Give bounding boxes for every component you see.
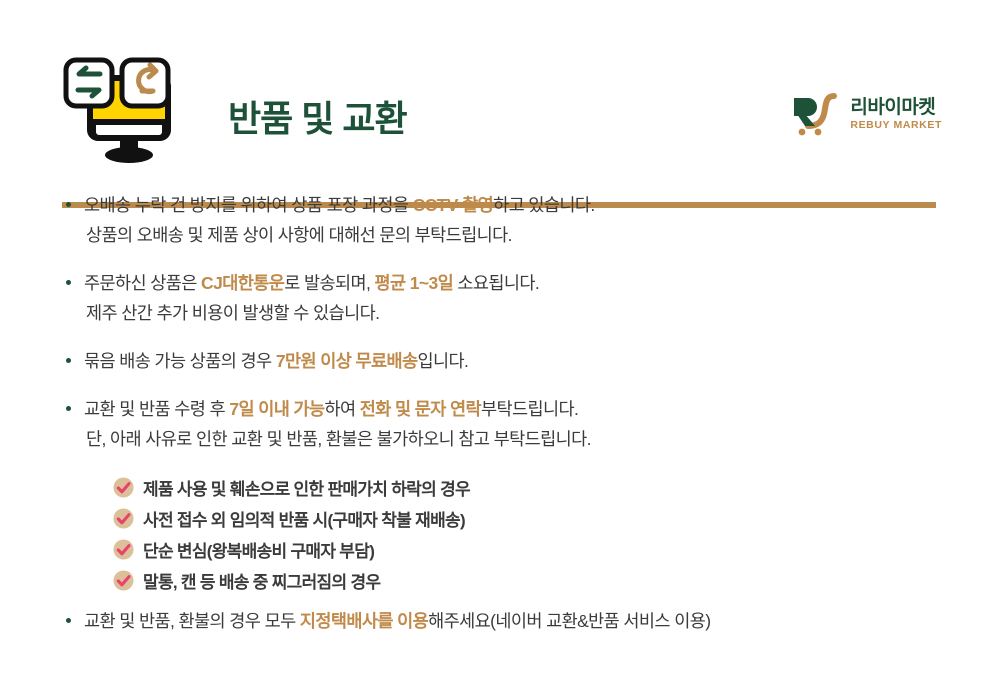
notice-text-mid: 로 발송되며, (284, 273, 374, 293)
notice-text-highlight: 지정택배사를 이용 (300, 611, 428, 631)
page-header: 반품 및 교환 리바이마켓 REBUY MARKET (0, 46, 1000, 166)
brand-name-en: REBUY MARKET (850, 120, 942, 131)
notice-item: 오배송 누락 건 방지를 위하여 상품 포장 과정을 CCTV 촬영하고 있습니… (0, 190, 1000, 250)
notice-text-post: 소요됩니다. (453, 273, 539, 293)
notice-text-post: 해주세요(네이버 교환&반품 서비스 이용) (428, 611, 710, 631)
exclusion-label: 말통, 캔 등 배송 중 찌그러짐의 경우 (143, 568, 380, 593)
notice-subline: 단, 아래 사유로 인한 교환 및 반품, 환불은 불가하오니 참고 부탁드립니… (84, 424, 1000, 454)
notice-item: 묶음 배송 가능 상품의 경우 7만원 이상 무료배송입니다. (0, 346, 1000, 376)
notice-text-pre: 교환 및 반품, 환불의 경우 모두 (84, 611, 300, 631)
exclusion-label: 사전 접수 외 임의적 반품 시(구매자 착불 재배송) (143, 506, 465, 531)
notice-line: 묶음 배송 가능 상품의 경우 7만원 이상 무료배송입니다. (84, 346, 1000, 376)
return-exchange-policy-page: 반품 및 교환 리바이마켓 REBUY MARKET (0, 0, 1000, 700)
notice-text-pre: 주문하신 상품은 (84, 273, 201, 293)
bullet-dot-icon (66, 406, 71, 411)
brand-logo: 리바이마켓 REBUY MARKET (788, 92, 942, 136)
notice-subline: 상품의 오배송 및 제품 상이 사항에 대해선 문의 부탁드립니다. (84, 220, 1000, 250)
notice-text-highlight: CCTV 촬영 (413, 195, 494, 215)
brand-text: 리바이마켓 REBUY MARKET (850, 98, 942, 131)
notice-text-highlight: 7만원 이상 무료배송 (276, 351, 418, 371)
notice-text-mid: 하여 (324, 399, 359, 419)
notice-text-highlight: 7일 이내 가능 (229, 399, 324, 419)
exclusion-label: 단순 변심(왕복배송비 구매자 부담) (143, 537, 374, 562)
bullet-dot-icon (66, 202, 71, 207)
bullet-dot-icon (66, 280, 71, 285)
check-circle-icon (113, 539, 134, 560)
bullet-dot-icon (66, 618, 71, 623)
notice-line: 오배송 누락 건 방지를 위하여 상품 포장 과정을 CCTV 촬영하고 있습니… (84, 190, 1000, 220)
notice-item: 교환 및 반품, 환불의 경우 모두 지정택배사를 이용해주세요(네이버 교환&… (0, 606, 1000, 636)
notice-item: 주문하신 상품은 CJ대한통운로 발송되며, 평균 1~3일 소요됩니다. 제주… (0, 268, 1000, 328)
notice-text-post: 하고 있습니다. (493, 195, 595, 215)
notice-item: 교환 및 반품 수령 후 7일 이내 가능하여 전화 및 문자 연락부탁드립니다… (0, 394, 1000, 454)
list-item: 단순 변심(왕복배송비 구매자 부담) (0, 534, 1000, 565)
list-item: 제품 사용 및 훼손으로 인한 판매가치 하락의 경우 (0, 472, 1000, 503)
notice-line: 주문하신 상품은 CJ대한통운로 발송되며, 평균 1~3일 소요됩니다. (84, 268, 1000, 298)
notice-text-post: 부탁드립니다. (481, 399, 578, 419)
notice-text-highlight-2: 평균 1~3일 (375, 273, 454, 293)
notice-text-post: 입니다. (417, 351, 468, 371)
notice-text-highlight-2: 전화 및 문자 연락 (360, 399, 481, 419)
brand-name-ko: 리바이마켓 (850, 98, 935, 117)
rebuy-cart-logo-mark (788, 92, 844, 136)
list-item: 사전 접수 외 임의적 반품 시(구매자 착불 재배송) (0, 503, 1000, 534)
list-item: 말통, 캔 등 배송 중 찌그러짐의 경우 (0, 565, 1000, 596)
notice-line: 교환 및 반품 수령 후 7일 이내 가능하여 전화 및 문자 연락부탁드립니다… (84, 394, 1000, 424)
exchange-monitor-icon (62, 54, 192, 166)
check-circle-icon (113, 477, 134, 498)
notice-text-pre: 오배송 누락 건 방지를 위하여 상품 포장 과정을 (84, 195, 413, 215)
bullet-dot-icon (66, 358, 71, 363)
notice-subline: 제주 산간 추가 비용이 발생할 수 있습니다. (84, 298, 1000, 328)
notice-text-highlight: CJ대한통운 (201, 273, 284, 293)
check-circle-icon (113, 570, 134, 591)
notice-line: 교환 및 반품, 환불의 경우 모두 지정택배사를 이용해주세요(네이버 교환&… (84, 606, 1000, 636)
exclusion-label: 제품 사용 및 훼손으로 인한 판매가치 하락의 경우 (143, 475, 470, 500)
notice-text-pre: 교환 및 반품 수령 후 (84, 399, 229, 419)
check-circle-icon (113, 508, 134, 529)
page-title: 반품 및 교환 (228, 90, 407, 142)
policy-content: 오배송 누락 건 방지를 위하여 상품 포장 과정을 CCTV 촬영하고 있습니… (0, 190, 1000, 636)
exclusion-checklist: 제품 사용 및 훼손으로 인한 판매가치 하락의 경우 사전 접수 외 임의적 … (0, 472, 1000, 596)
notice-text-pre: 묶음 배송 가능 상품의 경우 (84, 351, 276, 371)
